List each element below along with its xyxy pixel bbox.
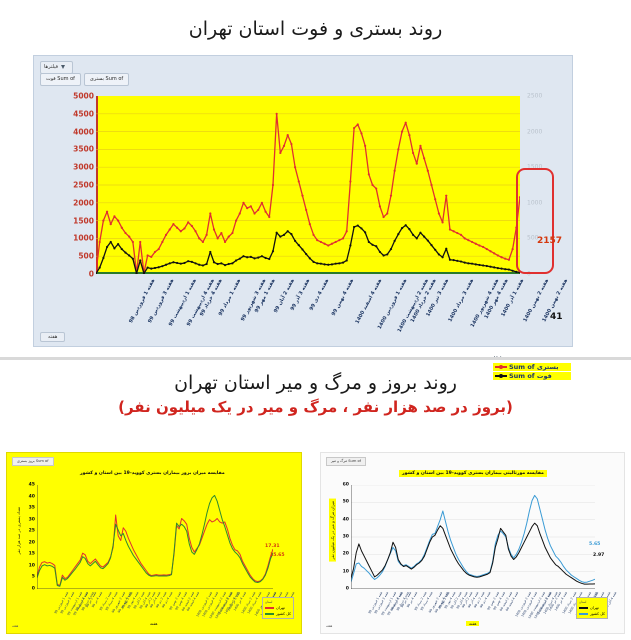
mini-y-tick: 15 (29, 552, 35, 557)
y-tick-left: 500 (78, 252, 94, 261)
section-divider (0, 357, 631, 360)
death-latest-value: 41 (550, 312, 563, 322)
incidence-y-ticks: 454035302520151050 (21, 485, 35, 589)
incidence-country-end-label: 15.65 (270, 553, 285, 558)
mini-y-tick: 20 (343, 552, 349, 557)
hospitalization-latest-value: 2157 (537, 236, 562, 246)
mini-y-tick: 0 (346, 587, 349, 592)
pill-death[interactable]: Sum of فوت (40, 73, 81, 86)
section1-title: روند بستری و فوت استان تهران (0, 18, 631, 40)
mini-y-tick: 50 (343, 500, 349, 505)
mortality-legend-item-country[interactable]: کل کشور (579, 611, 605, 617)
y-tick-right: 2500 (527, 93, 542, 100)
incidence-legend-swatch-country-icon (265, 613, 274, 615)
y-tick-left: 2000 (73, 198, 94, 207)
mortality-corner-button[interactable]: هفته (326, 624, 332, 628)
mini-y-tick: 45 (29, 483, 35, 488)
mortality-plot-area (351, 485, 595, 589)
mini-y-tick: 5 (32, 575, 35, 580)
mini-y-tick: 40 (343, 517, 349, 522)
main-plot-area (96, 96, 520, 274)
incidence-plot-area (37, 485, 273, 589)
pill-hospitalization[interactable]: Sum of بستری (84, 73, 129, 86)
mini-y-tick: 0 (32, 587, 35, 592)
incidence-legend-item-country[interactable]: کل کشور (265, 611, 291, 617)
mini-y-tick: 10 (343, 569, 349, 574)
legend-item-hospitalization[interactable]: Sum of بستری (493, 363, 571, 371)
main-plot-svg (96, 96, 520, 274)
incidence-plot-svg (37, 485, 273, 589)
y-tick-left: 4000 (73, 127, 94, 136)
incidence-chart-title: مقایسه میزان بروز بیماران بستری کووید-19… (77, 470, 228, 477)
section2-subtitle: (بروز در صد هزار نفر ، مرگ و میر در یک م… (0, 398, 631, 416)
y-tick-left: 0 (89, 270, 94, 279)
mortality-chart-panel: Sum of مرگ و میر مقایسه مورتالیتی بیمارا… (320, 452, 625, 634)
mini-y-tick: 60 (343, 483, 349, 488)
week-axis-button[interactable]: هفته (40, 332, 65, 342)
x-tick-label: هفته 4 دی 99 (309, 278, 331, 312)
right-y-axis: 25002000150010005000 (523, 89, 559, 281)
mini-y-tick: 30 (343, 535, 349, 540)
measure-pills: Sum of بستری Sum of فوت (40, 73, 129, 86)
mortality-country-end-label: 5.65 (589, 542, 600, 547)
poster-root: روند بستری و فوت استان تهران فیلترها Sum… (0, 0, 631, 640)
mortality-filter-button[interactable]: Sum of مرگ و میر (326, 457, 366, 466)
incidence-legend-swatch-tehran-icon (265, 607, 274, 609)
mortality-legend-swatch-country-icon (579, 613, 588, 615)
hospitalization-death-chart-panel: فیلترها Sum of بستری Sum of فوت 50004500… (33, 55, 573, 347)
y-tick-left: 4500 (73, 109, 94, 118)
incidence-x-ticks: هفته 1 فروردین 99هفته 3 فروردین 99هفته 1… (37, 591, 273, 617)
filter-button-label: فیلترها (44, 64, 58, 71)
mini-y-tick: 30 (29, 517, 35, 522)
mortality-x-ticks: هفته 1 فروردین 99هفته 3 فروردین 99هفته 1… (351, 591, 595, 617)
y-tick-left: 3000 (73, 163, 94, 172)
mini-y-tick: 40 (29, 494, 35, 499)
y-tick-left: 5000 (73, 92, 94, 101)
incidence-x-axis-label: هفته (147, 621, 160, 626)
mini-y-tick: 10 (29, 563, 35, 568)
main-x-axis-labels: هفته 1 فروردین 98هفته 3 فروردین 99هفته 1… (96, 278, 520, 340)
incidence-tehran-end-label: 17.31 (265, 544, 280, 549)
y-tick-left: 1000 (73, 234, 94, 243)
mortality-plot-svg (351, 485, 595, 589)
incidence-chart-panel: Sum of بروز بستری مقایسه میزان بروز بیما… (6, 452, 302, 634)
incidence-filter-button[interactable]: Sum of بروز بستری (12, 457, 54, 466)
mini-y-tick: 25 (29, 529, 35, 534)
funnel-icon (61, 65, 66, 70)
mortality-y-ticks: 6050403020100 (335, 485, 349, 589)
incidence-corner-button[interactable]: هفته (12, 624, 18, 628)
x-tick-label: هفته 4 بهمن 99 (331, 278, 355, 317)
x-tick-label: هفته 4 اسفند 1400 (354, 278, 383, 325)
x-tick-label: هفته 3 مرداد 1400 (447, 278, 475, 323)
mortality-x-axis-label: هفته (466, 621, 479, 626)
mortality-legend-label-country: کل کشور (590, 611, 605, 617)
y-tick-right: 0 (527, 271, 531, 278)
y-tick-left: 2500 (73, 181, 94, 190)
legend-label-hospitalization: Sum of بستری (509, 363, 559, 371)
incidence-legend-label-country: کل کشور (276, 611, 291, 617)
y-tick-left: 3500 (73, 145, 94, 154)
mortality-chart-title: مقایسه مورتالیتی بیماران بستری کووید-19 … (399, 470, 547, 477)
mini-y-tick: 35 (29, 506, 35, 511)
mortality-tehran-end-label: 2.97 (593, 553, 604, 558)
section2-title: روند بروز و مرگ و میر استان تهران (0, 372, 631, 394)
y-tick-left: 1500 (73, 216, 94, 225)
incidence-legend: استان تهران کل کشور (262, 597, 294, 619)
legend-swatch-red-icon (495, 366, 507, 368)
mini-y-tick: 20 (29, 540, 35, 545)
mortality-legend-swatch-tehran-icon (579, 607, 588, 609)
mortality-legend: استان تهران کل کشور (576, 597, 608, 619)
y-tick-right: 2000 (527, 128, 542, 135)
y-tick-right: 1000 (527, 199, 542, 206)
left-y-axis: 5000450040003500300025002000150010005000 (54, 89, 94, 281)
y-tick-right: 1500 (527, 164, 542, 171)
